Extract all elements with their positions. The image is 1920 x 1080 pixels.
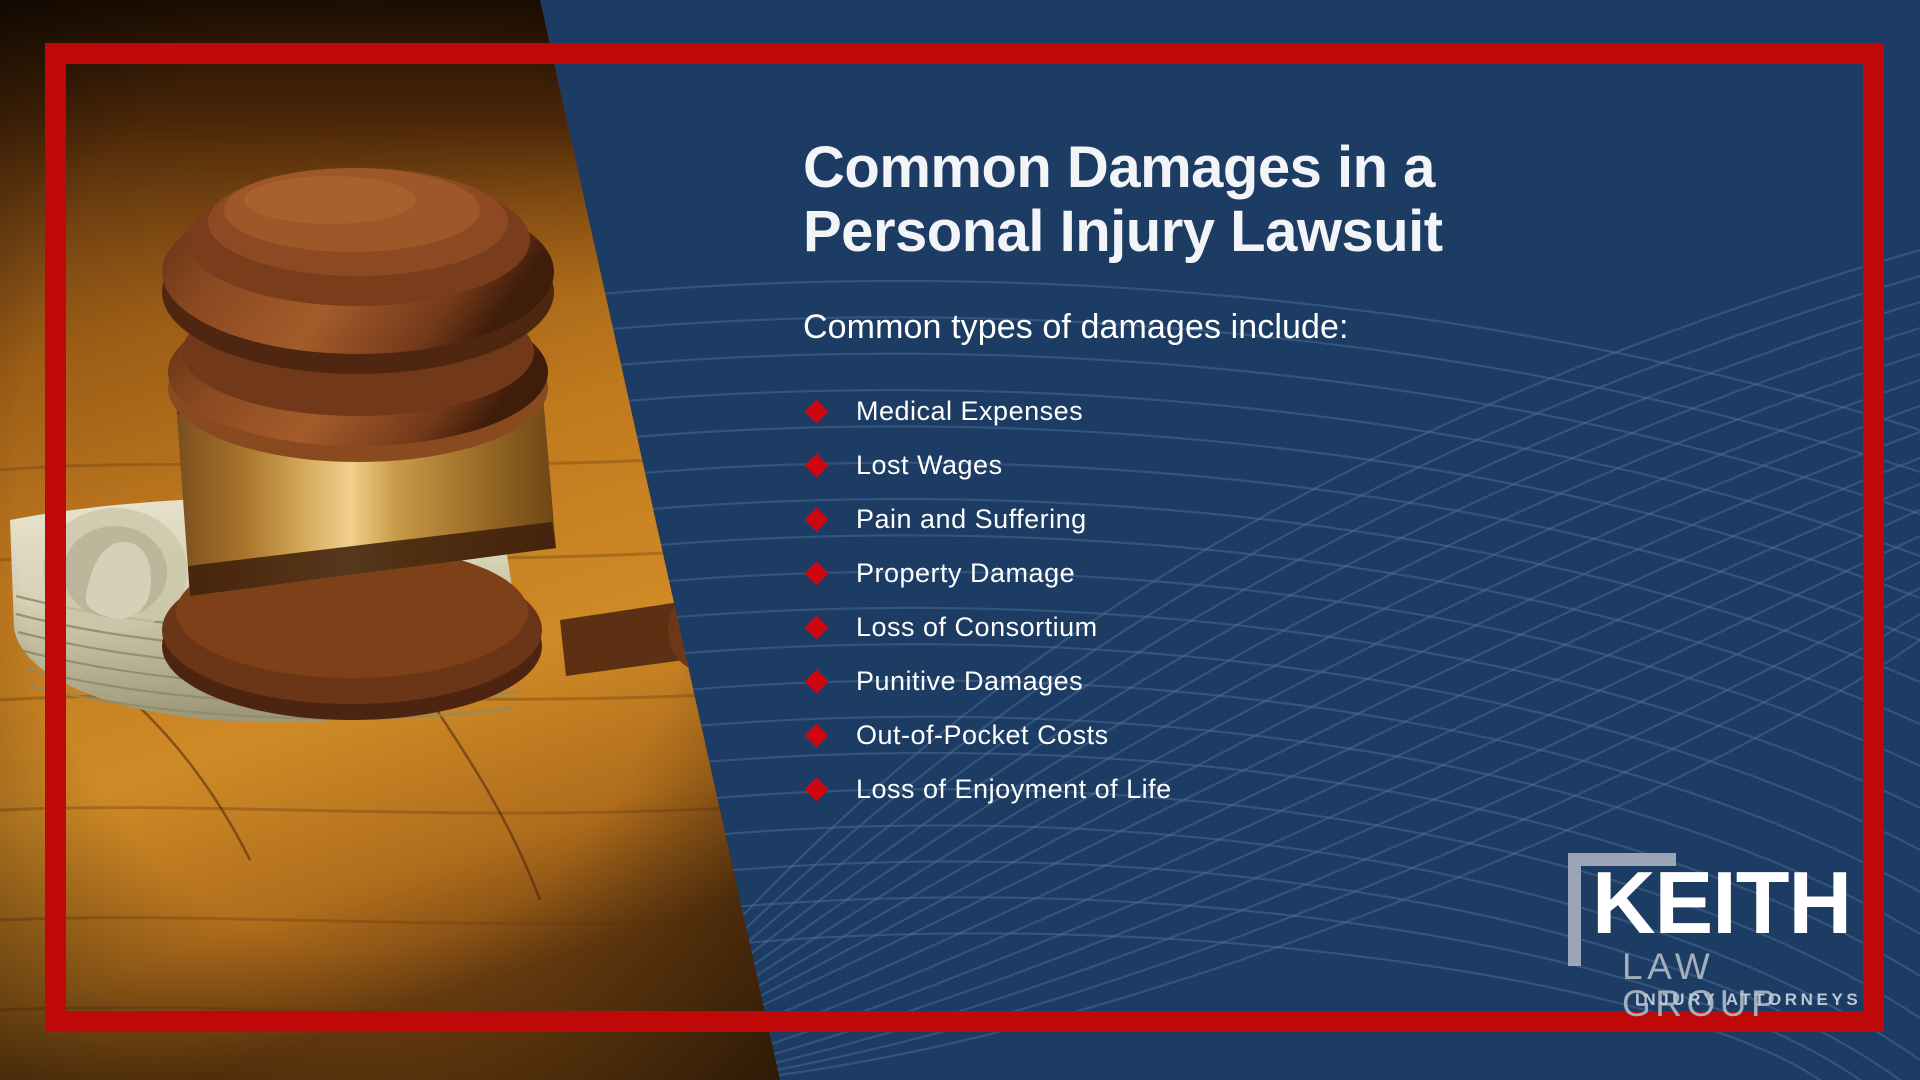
keith-law-group-logo: KEITH LAW GROUP INJURY ATTORNEYS <box>1562 847 1862 1007</box>
list-item-label: Punitive Damages <box>856 666 1083 697</box>
diamond-bullet-icon <box>804 508 828 532</box>
damages-list: Medical Expenses Lost Wages Pain and Suf… <box>803 385 1803 817</box>
diamond-bullet-icon <box>804 778 828 802</box>
gavel-photo-illustration: 50 <box>0 0 800 1080</box>
list-item: Loss of Consortium <box>803 601 1803 655</box>
list-item-label: Pain and Suffering <box>856 504 1087 535</box>
subtitle: Common types of damages include: <box>803 308 1803 347</box>
list-item-label: Out-of-Pocket Costs <box>856 720 1109 751</box>
list-item-label: Loss of Enjoyment of Life <box>856 774 1172 805</box>
diamond-bullet-icon <box>804 670 828 694</box>
content-column: Common Damages in a Personal Injury Laws… <box>803 136 1803 817</box>
logo-tagline: LAW GROUP <box>1622 948 1862 1022</box>
list-item: Pain and Suffering <box>803 493 1803 547</box>
list-item: Out-of-Pocket Costs <box>803 709 1803 763</box>
gavel-money-photo: 50 <box>0 0 800 1080</box>
diamond-bullet-icon <box>804 562 828 586</box>
diamond-bullet-icon <box>804 724 828 748</box>
list-item-label: Medical Expenses <box>856 396 1083 427</box>
list-item-label: Property Damage <box>856 558 1075 589</box>
diamond-bullet-icon <box>804 400 828 424</box>
diamond-bullet-icon <box>804 454 828 478</box>
list-item: Property Damage <box>803 547 1803 601</box>
list-item: Lost Wages <box>803 439 1803 493</box>
list-item: Medical Expenses <box>803 385 1803 439</box>
list-item: Loss of Enjoyment of Life <box>803 763 1803 817</box>
list-item-label: Loss of Consortium <box>856 612 1098 643</box>
page-title: Common Damages in a Personal Injury Laws… <box>803 136 1803 264</box>
list-item-label: Lost Wages <box>856 450 1003 481</box>
logo-name: KEITH <box>1592 859 1851 947</box>
list-item: Punitive Damages <box>803 655 1803 709</box>
diamond-bullet-icon <box>804 616 828 640</box>
infographic-canvas: 50 <box>0 0 1920 1080</box>
logo-subtagline: INJURY ATTORNEYS <box>1635 991 1861 1008</box>
